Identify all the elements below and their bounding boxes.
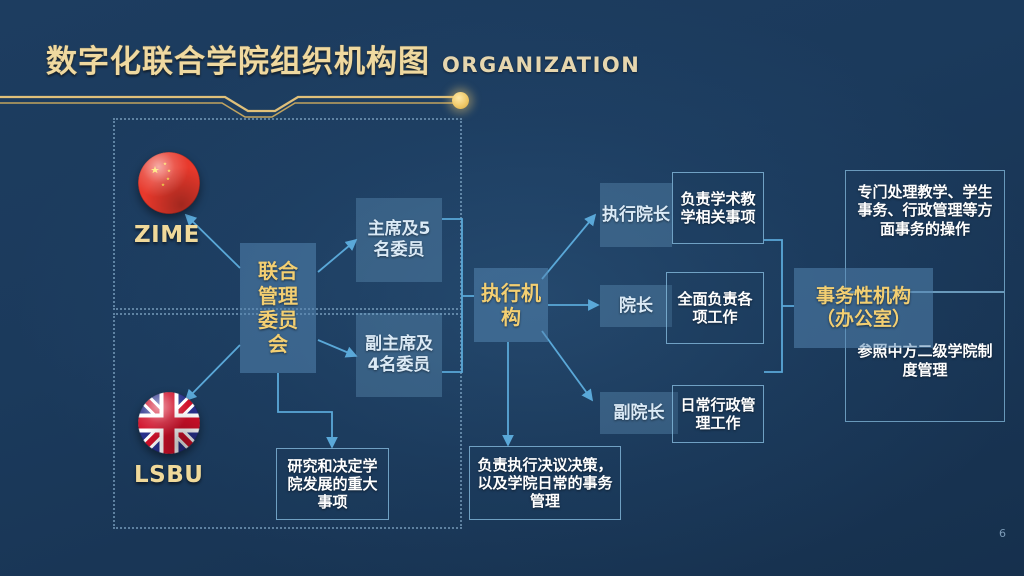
node-vice-chair-and-4-members[interactable]: 副主席及4名委员 — [356, 313, 442, 397]
node-joint-management-committee[interactable]: 联合管理委员会 — [240, 243, 316, 373]
node-executive-body-responsibility[interactable]: 负责执行决议决策，以及学院日常的事务管理 — [469, 446, 621, 520]
uk-flag-label: LSBU — [134, 462, 203, 488]
china-flag-label: ZIME — [134, 222, 200, 248]
node-chair-and-5-members[interactable]: 主席及5名委员 — [356, 198, 442, 282]
china-flag-icon — [138, 152, 200, 214]
node-executive-dean-duty[interactable]: 负责学术教学相关事项 — [672, 172, 764, 244]
page-number: 6 — [999, 527, 1006, 540]
title-chinese: 数字化联合学院组织机构图 — [46, 44, 430, 80]
header-decoration-dot — [452, 92, 469, 109]
node-executive-body[interactable]: 执行机构 — [474, 268, 548, 342]
node-administrative-office[interactable]: 事务性机构（办公室） — [794, 268, 933, 348]
page-title: 数字化联合学院组织机构图ORGANIZATION — [46, 36, 640, 81]
uk-flag-icon — [138, 392, 200, 454]
slide-canvas: 数字化联合学院组织机构图ORGANIZATION — [0, 0, 1024, 576]
node-committee-responsibility[interactable]: 研究和决定学院发展的重大事项 — [276, 448, 389, 520]
node-dean-duty[interactable]: 全面负责各项工作 — [666, 272, 764, 344]
title-english: ORGANIZATION — [442, 53, 640, 77]
node-vice-dean-duty[interactable]: 日常行政管理工作 — [672, 385, 764, 443]
node-vice-dean[interactable]: 副院长 — [600, 392, 678, 434]
node-executive-dean[interactable]: 执行院长 — [600, 183, 672, 247]
header-decoration-line — [0, 86, 1024, 120]
node-dean[interactable]: 院长 — [600, 285, 672, 327]
